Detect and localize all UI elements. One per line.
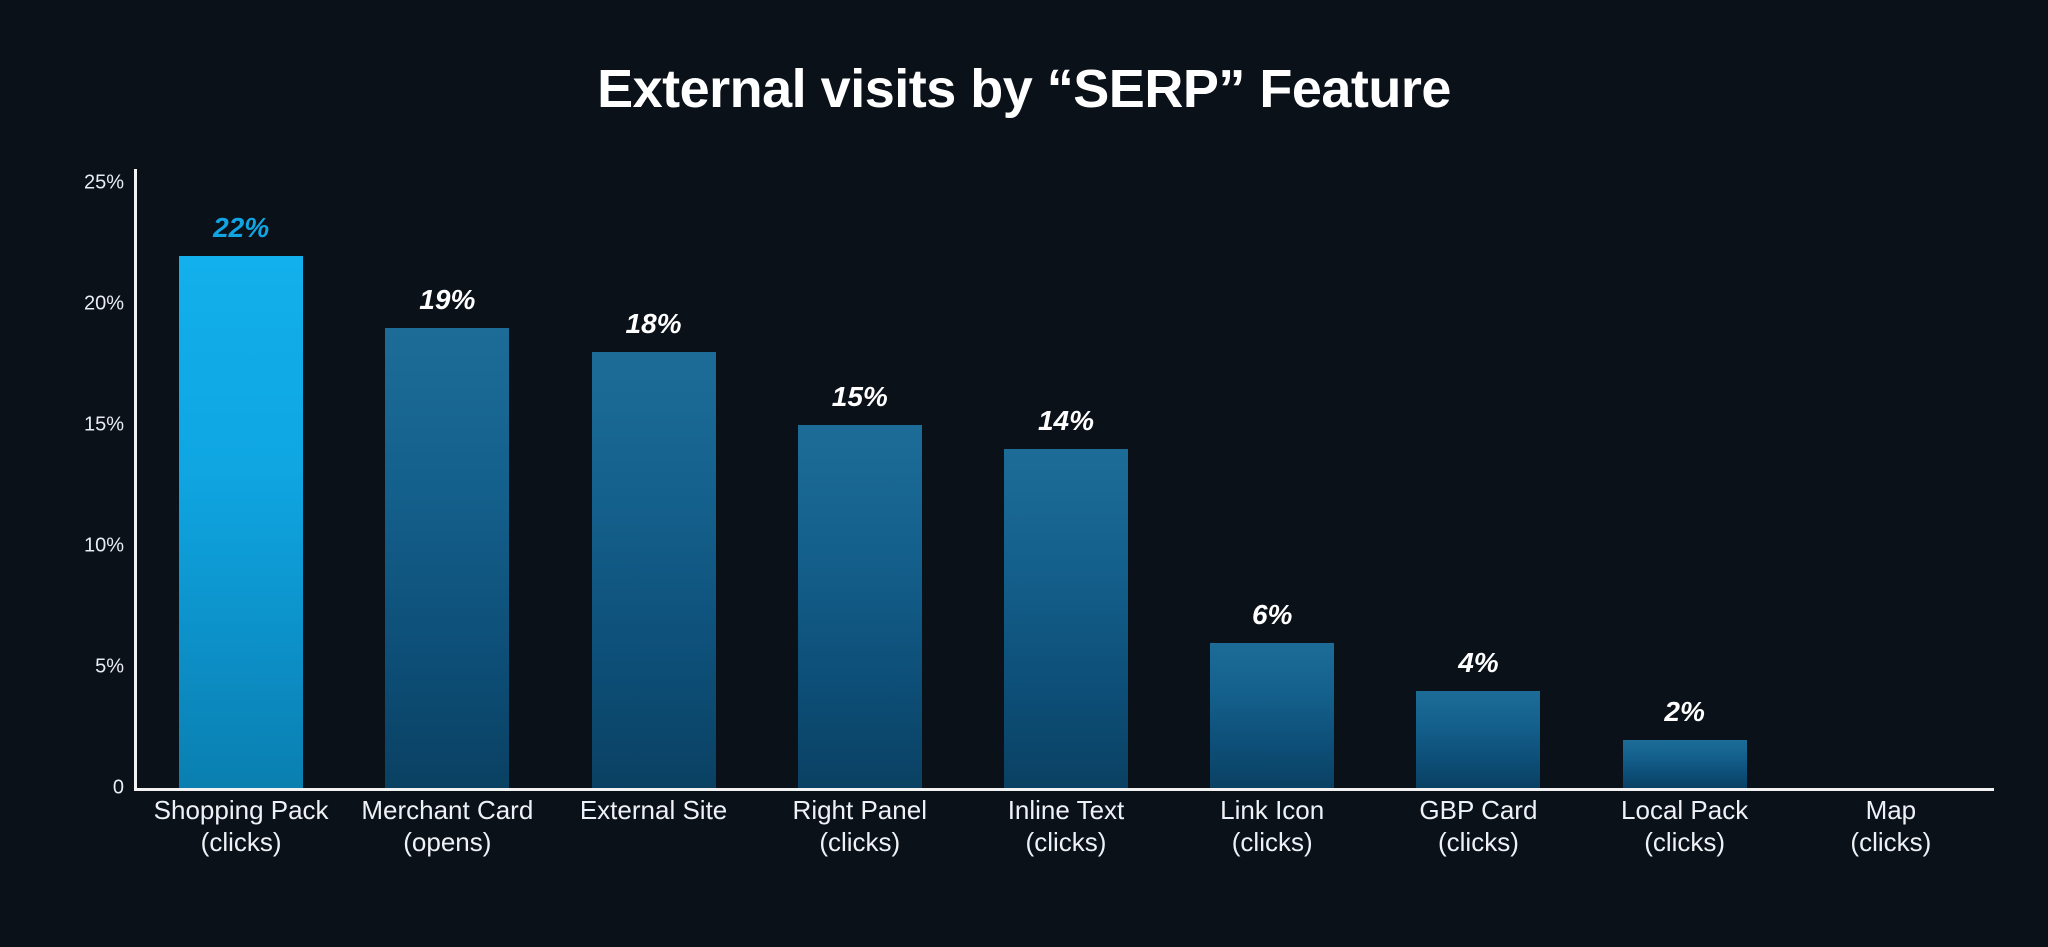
y-axis-tick-label: 15% xyxy=(84,414,124,437)
y-axis-line xyxy=(134,169,137,788)
bar-value-label: 18% xyxy=(626,308,682,340)
bar-value-label: 6% xyxy=(1252,599,1292,631)
bar[interactable]: 19% xyxy=(385,328,509,788)
bar-slot: 19% xyxy=(344,183,550,788)
bar[interactable]: 4% xyxy=(1416,691,1540,788)
bar[interactable]: 2% xyxy=(1623,740,1747,788)
bar[interactable]: 14% xyxy=(1004,449,1128,788)
y-axis-tick-label: 0 xyxy=(113,777,124,800)
x-axis-label: Merchant Card (opens) xyxy=(344,795,550,859)
x-axis-label: Shopping Pack (clicks) xyxy=(138,795,344,859)
bar-value-label: 22% xyxy=(213,212,269,244)
y-axis-tick-label: 5% xyxy=(95,656,124,679)
x-axis-label: Local Pack (clicks) xyxy=(1582,795,1788,859)
bar-value-label: 19% xyxy=(419,284,475,316)
x-axis-label: Inline Text (clicks) xyxy=(963,795,1169,859)
chart-container: External visits by “SERP” Feature 25%20%… xyxy=(0,0,2048,947)
x-axis-label: GBP Card (clicks) xyxy=(1375,795,1581,859)
bar[interactable]: 18% xyxy=(592,352,716,788)
bar-slot: 14% xyxy=(963,183,1169,788)
bar-series: 22%19%18%15%14%6%4%2% xyxy=(138,183,1994,788)
chart-title: External visits by “SERP” Feature xyxy=(0,58,2048,120)
bar[interactable]: 6% xyxy=(1210,643,1334,788)
plot-area: 22%19%18%15%14%6%4%2% xyxy=(138,183,1994,788)
bar[interactable]: 22% xyxy=(179,256,303,788)
bar-value-label: 15% xyxy=(832,381,888,413)
bar-slot: 6% xyxy=(1169,183,1375,788)
bar[interactable]: 15% xyxy=(798,425,922,788)
x-axis-label: Right Panel (clicks) xyxy=(757,795,963,859)
y-axis-tick-label: 25% xyxy=(84,172,124,195)
bar-slot: 15% xyxy=(757,183,963,788)
bar-slot: 2% xyxy=(1582,183,1788,788)
bar-slot: 18% xyxy=(550,183,756,788)
y-axis-tick-label: 20% xyxy=(84,293,124,316)
y-axis-tick-label: 10% xyxy=(84,535,124,558)
x-axis-category-labels: Shopping Pack (clicks)Merchant Card (ope… xyxy=(138,795,1994,859)
x-axis-label: Map (clicks) xyxy=(1788,795,1994,859)
bar-slot: 22% xyxy=(138,183,344,788)
y-axis-ticks: 25%20%15%10%5%0 xyxy=(0,0,124,947)
x-axis-label: External Site xyxy=(550,795,756,859)
bar-value-label: 14% xyxy=(1038,405,1094,437)
bar-value-label: 4% xyxy=(1458,647,1498,679)
bar-slot: 4% xyxy=(1375,183,1581,788)
x-axis-line xyxy=(134,788,1994,791)
bar-value-label: 2% xyxy=(1664,696,1704,728)
bar-slot xyxy=(1788,183,1994,788)
x-axis-label: Link Icon (clicks) xyxy=(1169,795,1375,859)
